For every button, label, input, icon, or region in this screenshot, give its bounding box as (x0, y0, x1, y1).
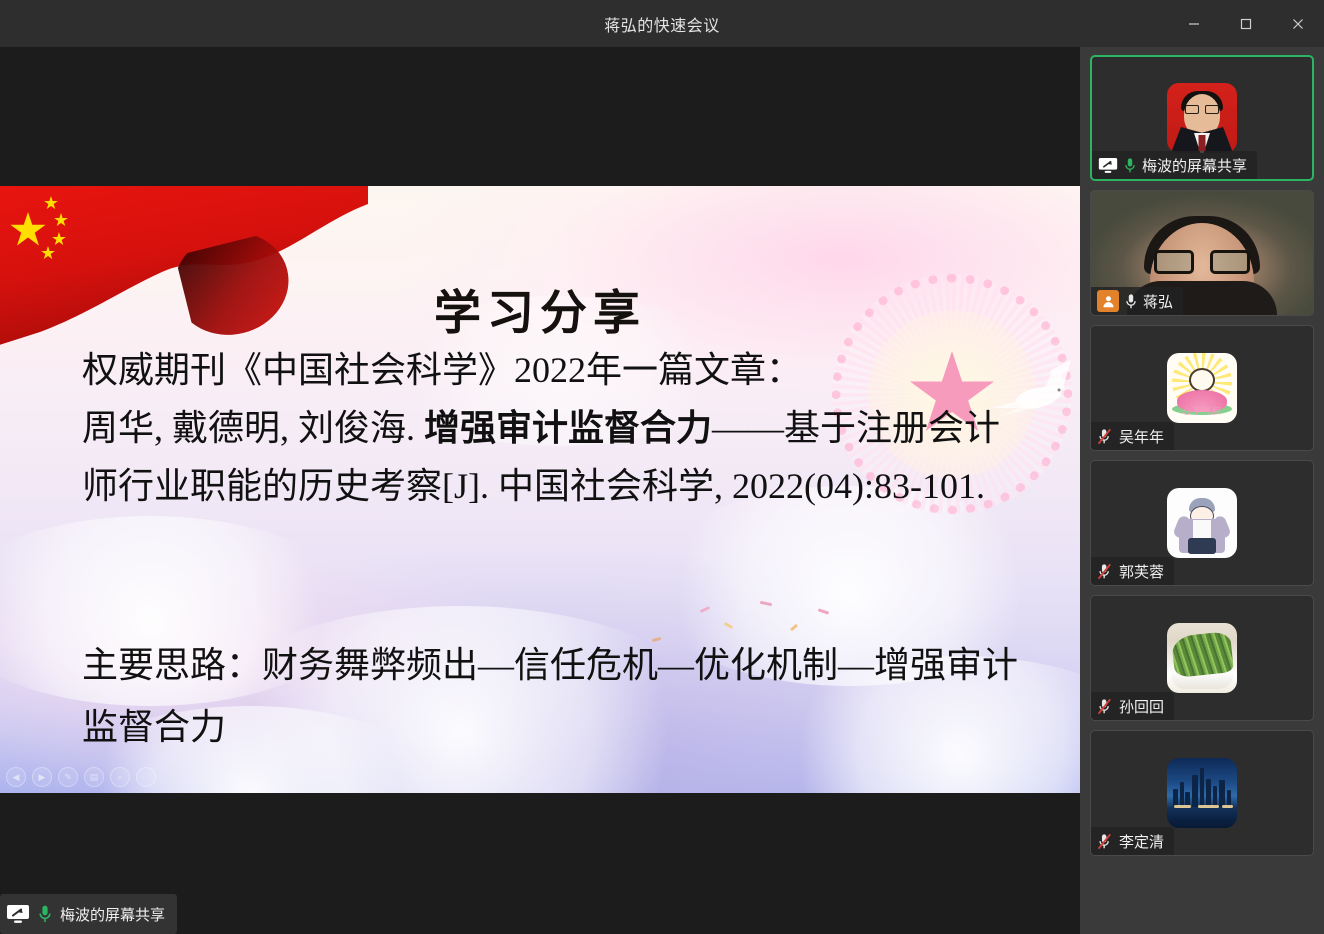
city-skyline-avatar (1167, 758, 1237, 828)
participant-name-bar: 李定清 (1091, 827, 1174, 855)
participant-name: 吴年年 (1119, 426, 1164, 447)
participant-name-bar: 孙回回 (1091, 692, 1174, 720)
next-slide-button[interactable]: ▶ (32, 767, 52, 787)
participant-name: 李定清 (1119, 831, 1164, 852)
presentation-toolbar[interactable]: ◀ ▶ ✎ ▤ ⌕ ··· (6, 767, 156, 787)
zoom-tool-button[interactable]: ⌕ (110, 767, 130, 787)
lotus-sticker-avatar: 心平气和 (1167, 353, 1237, 423)
participants-sidebar[interactable]: 梅波的屏幕共享 (1080, 47, 1324, 934)
avatar (1167, 83, 1237, 153)
microphone-muted-icon (1097, 698, 1113, 715)
citation-authors: 周华, 戴德明, 刘俊海. (82, 408, 424, 448)
cheering-sticker-avatar (1167, 488, 1237, 558)
participant-tile[interactable]: 李定清 (1090, 730, 1314, 856)
microphone-icon (38, 904, 52, 924)
self-avatar-badge (1097, 290, 1119, 312)
ellipsis-icon: ··· (142, 773, 151, 782)
participant-name: 郭芙蓉 (1119, 561, 1164, 582)
share-banner-label: 梅波的屏幕共享 (60, 904, 165, 925)
microphone-muted-icon (1097, 563, 1113, 580)
microphone-muted-icon (1097, 833, 1113, 850)
meeting-window: 蒋弘的快速会议 (0, 0, 1324, 934)
microphone-icon (1125, 293, 1137, 310)
chives-photo-avatar (1167, 623, 1237, 693)
sticker-figure (1189, 368, 1215, 392)
chevron-left-icon: ◀ (13, 773, 20, 782)
participant-tile-self[interactable]: 蒋弘 (1090, 190, 1314, 316)
participant-name: 蒋弘 (1143, 291, 1173, 312)
person-icon (1102, 295, 1115, 308)
avatar: 心平气和 (1167, 353, 1237, 423)
screen-share-icon (6, 904, 30, 924)
participant-name-bar: 郭芙蓉 (1091, 557, 1174, 585)
window-controls (1168, 0, 1324, 47)
pen-icon: ✎ (64, 773, 72, 782)
avatar (1167, 488, 1237, 558)
magnifier-icon: ⌕ (117, 773, 122, 782)
screen-share-icon (1098, 157, 1118, 174)
portrait-photo (1167, 83, 1237, 153)
microphone-icon (1124, 157, 1136, 174)
slide-text-layer: 学习分享 权威期刊《中国社会科学》2022年一篇文章： 周华, 戴德明, 刘俊海… (0, 186, 1080, 793)
participant-tile[interactable]: 心平气和 吴年年 (1090, 325, 1314, 451)
photo-chives (1171, 631, 1234, 678)
shared-slide-surface[interactable]: 学习分享 权威期刊《中国社会科学》2022年一篇文章： 周华, 戴德明, 刘俊海… (0, 186, 1080, 793)
avatar (1167, 758, 1237, 828)
participant-name: 梅波的屏幕共享 (1142, 155, 1247, 176)
grid-icon: ▤ (90, 773, 99, 782)
maximize-icon (1239, 17, 1253, 31)
sticker-caption: 心平气和 (1174, 404, 1230, 417)
participant-name-bar: 蒋弘 (1091, 287, 1183, 315)
maximize-button[interactable] (1220, 0, 1272, 47)
minimize-button[interactable] (1168, 0, 1220, 47)
photo-water (1167, 807, 1237, 828)
participant-name-bar: 梅波的屏幕共享 (1092, 151, 1257, 179)
active-share-banner: 梅波的屏幕共享 (0, 894, 177, 934)
slide-overview-button[interactable]: ▤ (84, 767, 104, 787)
avatar (1167, 623, 1237, 693)
meeting-title: 蒋弘的快速会议 (604, 12, 720, 36)
slide-title: 学习分享 (0, 274, 1080, 343)
participant-tile[interactable]: 孙回回 (1090, 595, 1314, 721)
minimize-icon (1187, 17, 1201, 31)
portrait-glasses (1185, 105, 1219, 114)
portrait-tie (1199, 135, 1206, 151)
participant-name: 孙回回 (1119, 696, 1164, 717)
webcam-glasses (1154, 249, 1250, 275)
citation-article-title: 增强审计监督合力 (424, 408, 712, 448)
chevron-right-icon: ▶ (39, 773, 46, 782)
slide-thesis: 主要思路：财务舞弊频出—信任危机—优化机制—增强审计监督合力 (82, 634, 1042, 758)
close-button[interactable] (1272, 0, 1324, 47)
slide-citation: 权威期刊《中国社会科学》2022年一篇文章： 周华, 戴德明, 刘俊海. 增强审… (82, 341, 1027, 515)
citation-line-1: 权威期刊《中国社会科学》2022年一篇文章： (82, 350, 802, 390)
sticker-legs (1188, 538, 1216, 554)
previous-slide-button[interactable]: ◀ (6, 767, 26, 787)
participant-name-bar: 吴年年 (1091, 422, 1174, 450)
title-bar: 蒋弘的快速会议 (0, 0, 1324, 47)
more-options-button[interactable]: ··· (136, 767, 156, 787)
participant-tile-screen-share[interactable]: 梅波的屏幕共享 (1090, 55, 1314, 181)
pen-tool-button[interactable]: ✎ (58, 767, 78, 787)
close-icon (1291, 17, 1305, 31)
participant-tile[interactable]: 郭芙蓉 (1090, 460, 1314, 586)
microphone-muted-icon (1097, 428, 1113, 445)
shared-screen-stage[interactable]: 学习分享 权威期刊《中国社会科学》2022年一篇文章： 周华, 戴德明, 刘俊海… (0, 47, 1080, 934)
